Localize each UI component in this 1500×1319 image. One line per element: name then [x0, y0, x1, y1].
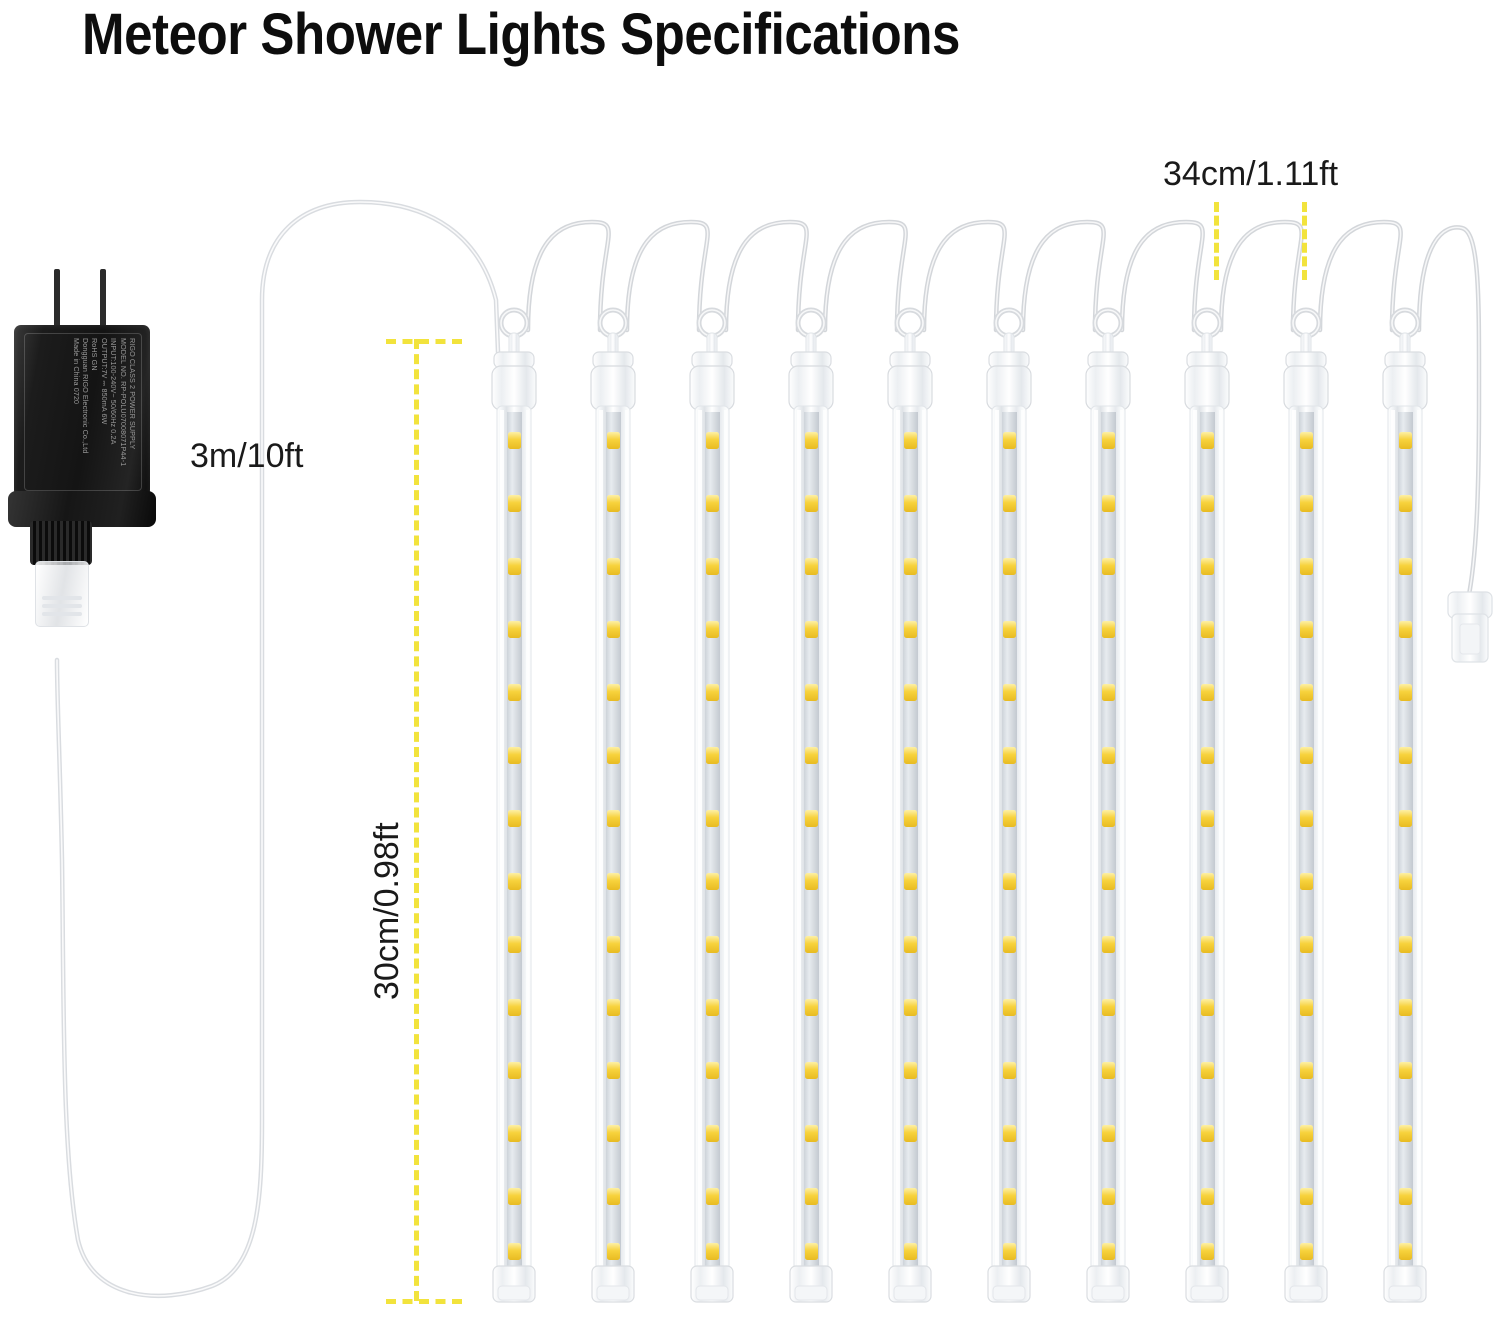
tube-length-tick-bottom — [386, 1299, 462, 1304]
tube-spacing-guide-left — [1214, 202, 1219, 280]
led-tube — [789, 310, 833, 1302]
label-line: MODEL NO. RP-POLU07008071P44-1 — [118, 338, 127, 488]
led-tube — [987, 310, 1031, 1302]
tube-spacing-guide-right — [1302, 202, 1307, 280]
led-tube — [591, 310, 635, 1302]
power-adapter: RIGO CLASS 2 POWER SUPPLY MODEL NO. RP-P… — [8, 325, 158, 525]
led-tube — [1284, 310, 1328, 1302]
adapter-body: RIGO CLASS 2 POWER SUPPLY MODEL NO. RP-P… — [14, 325, 150, 497]
led-tube — [1086, 310, 1130, 1302]
tube-length-label: 30cm/0.98ft — [368, 822, 407, 1000]
plug-prong-right — [100, 269, 106, 329]
adapter-strain-relief — [30, 521, 92, 565]
label-line: OUTPUT:7V ⎓ 850mA 6W — [99, 338, 108, 488]
tube-length-guide-line — [414, 339, 419, 1301]
label-line: INPUT:100-240V~ 50/60Hz 0.2A — [109, 338, 118, 488]
product-illustration — [0, 0, 1500, 1319]
adapter-label: RIGO CLASS 2 POWER SUPPLY MODEL NO. RP-P… — [24, 333, 142, 491]
end-connector — [1448, 592, 1492, 662]
label-line: Dongguan RIGO Electronic Co.,Ltd — [81, 338, 90, 488]
led-tube-group — [492, 310, 1427, 1302]
adapter-label-text: RIGO CLASS 2 POWER SUPPLY MODEL NO. RP-P… — [25, 338, 137, 488]
tube-spacing-label: 34cm/1.11ft — [1163, 155, 1338, 194]
led-tube — [1185, 310, 1229, 1302]
cord-length-label: 3m/10ft — [190, 437, 303, 476]
label-line: RIGO CLASS 2 POWER SUPPLY — [128, 338, 137, 488]
label-line: RoHS GN — [90, 338, 99, 488]
led-tube — [1383, 310, 1427, 1302]
adapter-output-connector — [35, 561, 89, 627]
tube-length-tick-top — [386, 339, 462, 344]
label-line: Made in China 0720 — [71, 338, 80, 488]
led-tube — [492, 310, 536, 1302]
plug-prong-left — [54, 269, 60, 329]
led-tube — [690, 310, 734, 1302]
led-tube — [888, 310, 932, 1302]
